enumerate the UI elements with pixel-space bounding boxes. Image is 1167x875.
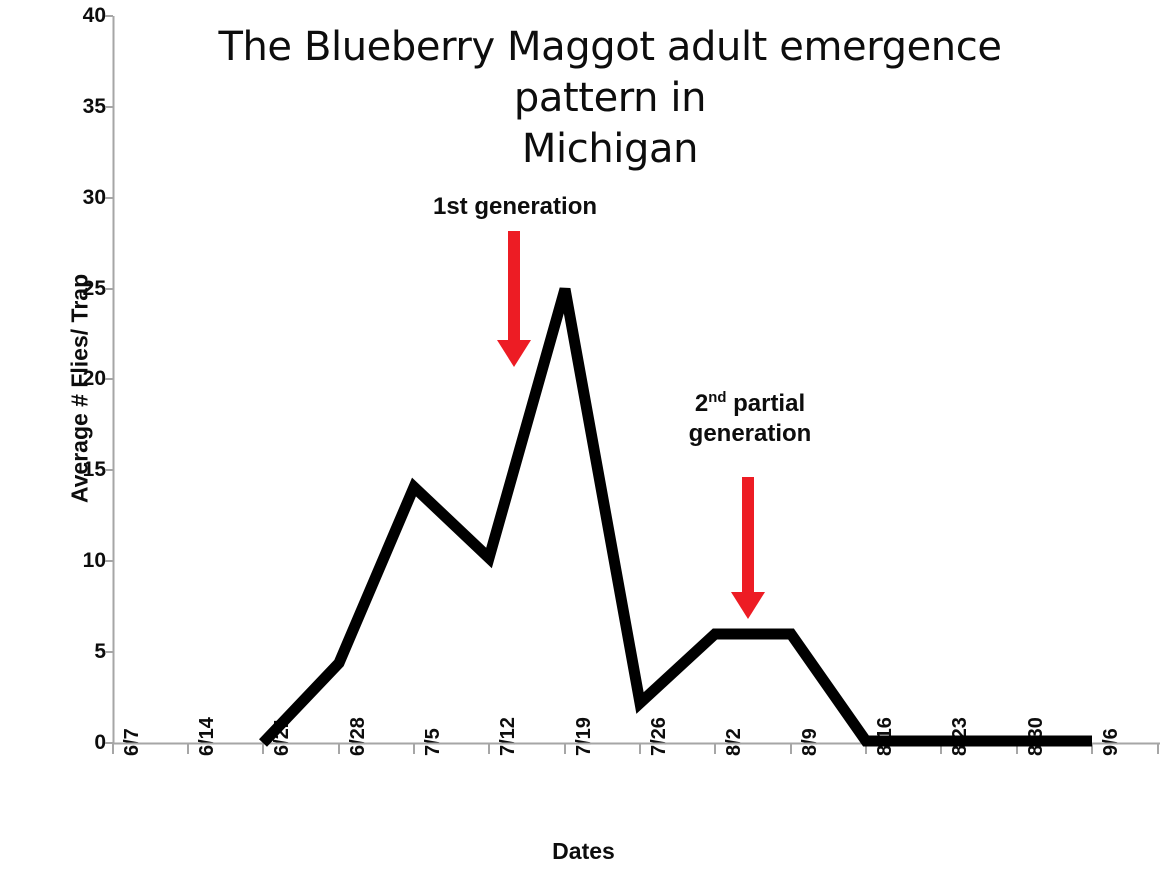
annotation-arrow-1st-generation: [497, 231, 531, 367]
annotation-ordinal-suffix: nd: [708, 390, 726, 406]
y-axis-ticks: [105, 16, 113, 743]
annotation-arrow-2nd-partial-generation: [731, 477, 765, 619]
annotation-label-2nd-partial-generation: 2nd partialgeneration: [640, 389, 860, 449]
plot-area: [0, 0, 1167, 875]
data-line-average-flies-per-trap: [263, 289, 1092, 743]
annotation-label-1st-generation: 1st generation: [400, 192, 630, 222]
chart-canvas: The Blueberry Maggot adult emergence pat…: [0, 0, 1167, 875]
